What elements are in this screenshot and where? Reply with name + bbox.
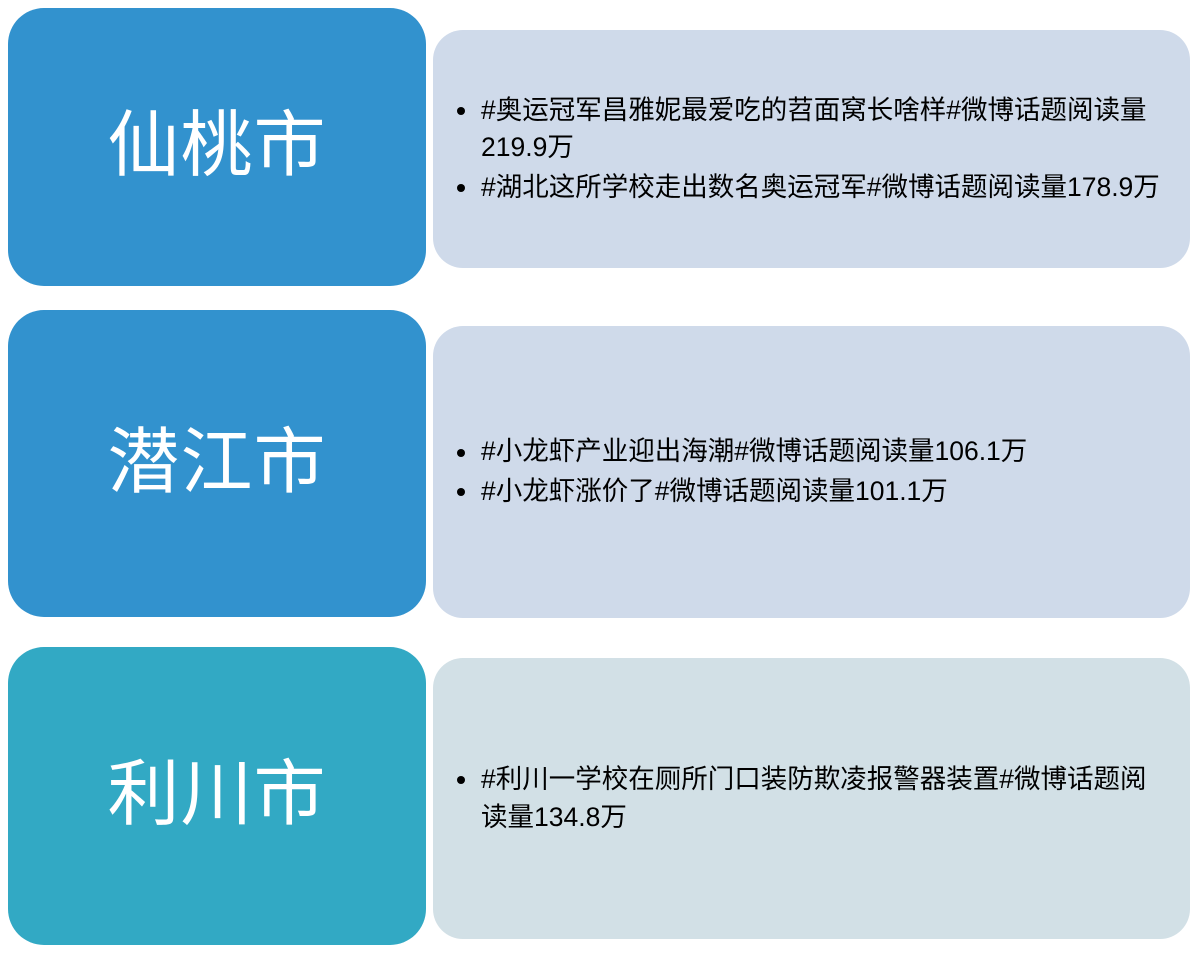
bullet-icon <box>457 107 465 115</box>
topic-panel-3: #利川一学校在厕所门口装防欺凌报警器装置#微博话题阅读量134.8万 <box>433 658 1190 939</box>
list-item: #利川一学校在厕所门口装防欺凌报警器装置#微博话题阅读量134.8万 <box>447 761 1164 836</box>
city-topics-infographic: 仙桃市 #奥运冠军昌雅妮最爱吃的苕面窝长啥样#微博话题阅读量219.9万 #湖北… <box>0 0 1199 953</box>
topic-text: #小龙虾涨价了#微博话题阅读量101.1万 <box>481 476 948 506</box>
list-item: #湖北这所学校走出数名奥运冠军#微博话题阅读量178.9万 <box>447 169 1164 207</box>
list-item: #小龙虾产业迎出海潮#微博话题阅读量106.1万 <box>447 433 1164 471</box>
topic-panel-1: #奥运冠军昌雅妮最爱吃的苕面窝长啥样#微博话题阅读量219.9万 #湖北这所学校… <box>433 30 1190 268</box>
list-item: #奥运冠军昌雅妮最爱吃的苕面窝长啥样#微博话题阅读量219.9万 <box>447 92 1164 167</box>
topic-list: #利川一学校在厕所门口装防欺凌报警器装置#微博话题阅读量134.8万 <box>447 761 1164 836</box>
topic-text: #湖北这所学校走出数名奥运冠军#微博话题阅读量178.9万 <box>481 172 1160 202</box>
topic-panel-2: #小龙虾产业迎出海潮#微博话题阅读量106.1万 #小龙虾涨价了#微博话题阅读量… <box>433 326 1190 618</box>
city-name-label: 潜江市 <box>107 426 326 502</box>
city-topic-row: 仙桃市 #奥运冠军昌雅妮最爱吃的苕面窝长啥样#微博话题阅读量219.9万 #湖北… <box>0 0 1199 300</box>
bullet-icon <box>457 488 465 496</box>
topic-list: #小龙虾产业迎出海潮#微博话题阅读量106.1万 #小龙虾涨价了#微博话题阅读量… <box>447 433 1164 510</box>
city-topic-row: 利川市 #利川一学校在厕所门口装防欺凌报警器装置#微博话题阅读量134.8万 <box>0 647 1199 953</box>
list-item: #小龙虾涨价了#微博话题阅读量101.1万 <box>447 473 1164 511</box>
city-block-1: 仙桃市 <box>8 8 426 286</box>
topic-list: #奥运冠军昌雅妮最爱吃的苕面窝长啥样#微博话题阅读量219.9万 #湖北这所学校… <box>447 92 1164 207</box>
city-topic-row: 潜江市 #小龙虾产业迎出海潮#微博话题阅读量106.1万 #小龙虾涨价了#微博话… <box>0 310 1199 620</box>
topic-text: #利川一学校在厕所门口装防欺凌报警器装置#微博话题阅读量134.8万 <box>481 764 1146 832</box>
bullet-icon <box>457 449 465 457</box>
bullet-icon <box>457 184 465 192</box>
topic-text: #小龙虾产业迎出海潮#微博话题阅读量106.1万 <box>481 436 1027 466</box>
bullet-icon <box>457 776 465 784</box>
city-block-3: 利川市 <box>8 647 426 945</box>
topic-text: #奥运冠军昌雅妮最爱吃的苕面窝长啥样#微博话题阅读量219.9万 <box>481 95 1146 163</box>
city-block-2: 潜江市 <box>8 310 426 617</box>
city-name-label: 利川市 <box>107 758 326 834</box>
city-name-label: 仙桃市 <box>107 109 326 185</box>
